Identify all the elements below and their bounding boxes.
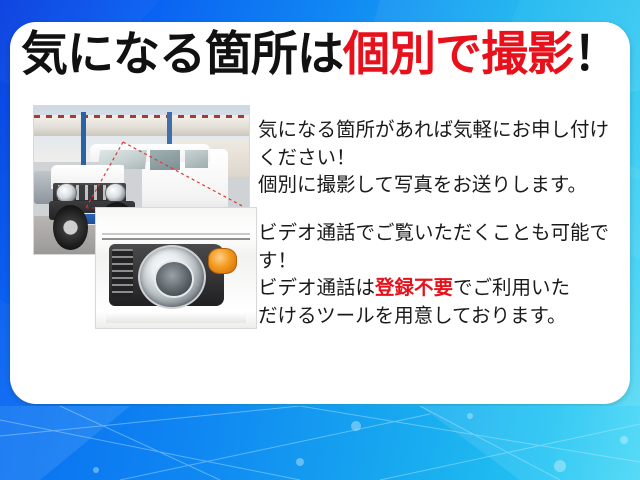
para1-line3: 個別に撮影して写真をお送りします。 bbox=[258, 172, 622, 200]
photo-headlight-left bbox=[56, 183, 77, 203]
title-black-part: 気になる箇所は bbox=[21, 27, 343, 80]
para2-line4: だけるツールを用意しております。 bbox=[258, 303, 622, 331]
copy-spacer bbox=[258, 200, 622, 220]
detail-lower-bumper bbox=[106, 312, 247, 323]
para2-line3-post: でご利用いた bbox=[453, 277, 570, 299]
detail-turn-signal bbox=[208, 248, 237, 274]
detail-panel-seam-upper bbox=[102, 233, 249, 235]
para2-line3-pre: ビデオ通話は bbox=[258, 277, 375, 299]
detail-panel-seam-lower bbox=[102, 238, 249, 240]
banner-network-pattern bbox=[0, 406, 640, 480]
photo-canopy bbox=[34, 115, 249, 136]
para2-highlight-no-registration: 登録不要 bbox=[375, 277, 453, 299]
title-red-part: 個別で撮影 bbox=[343, 27, 573, 80]
detail-grille-fins bbox=[112, 249, 133, 297]
content-card: 気になる箇所は個別で撮影！ bbox=[10, 22, 630, 404]
photo-headlight-right bbox=[105, 183, 126, 203]
para1-line1: 気になる箇所があれば気軽にお申し付け bbox=[258, 117, 622, 145]
photo-rear-window bbox=[185, 150, 209, 168]
page-title: 気になる箇所は個別で撮影！ bbox=[10, 30, 630, 77]
para2-line2: す！ bbox=[258, 248, 622, 276]
bottom-banner: トヨナガ トヨナガ bbox=[0, 406, 640, 480]
detail-headlight bbox=[138, 245, 206, 309]
body-copy: 気になる箇所があれば気軽にお申し付け ください！ 個別に撮影して写真をお送りしま… bbox=[258, 117, 622, 331]
title-exclamation: ！ bbox=[573, 27, 619, 80]
photo-front-door-window bbox=[150, 150, 180, 169]
photo-wheel-front bbox=[53, 205, 87, 249]
vehicle-detail-photo[interactable] bbox=[95, 207, 257, 329]
para2-line1: ビデオ通話でご覧いただくことも可能で bbox=[258, 220, 622, 248]
para2-line3: ビデオ通話は登録不要でご利用いた bbox=[258, 275, 622, 303]
screenshot-root: 気になる箇所は個別で撮影！ bbox=[0, 0, 640, 480]
para1-line2: ください！ bbox=[258, 145, 622, 173]
